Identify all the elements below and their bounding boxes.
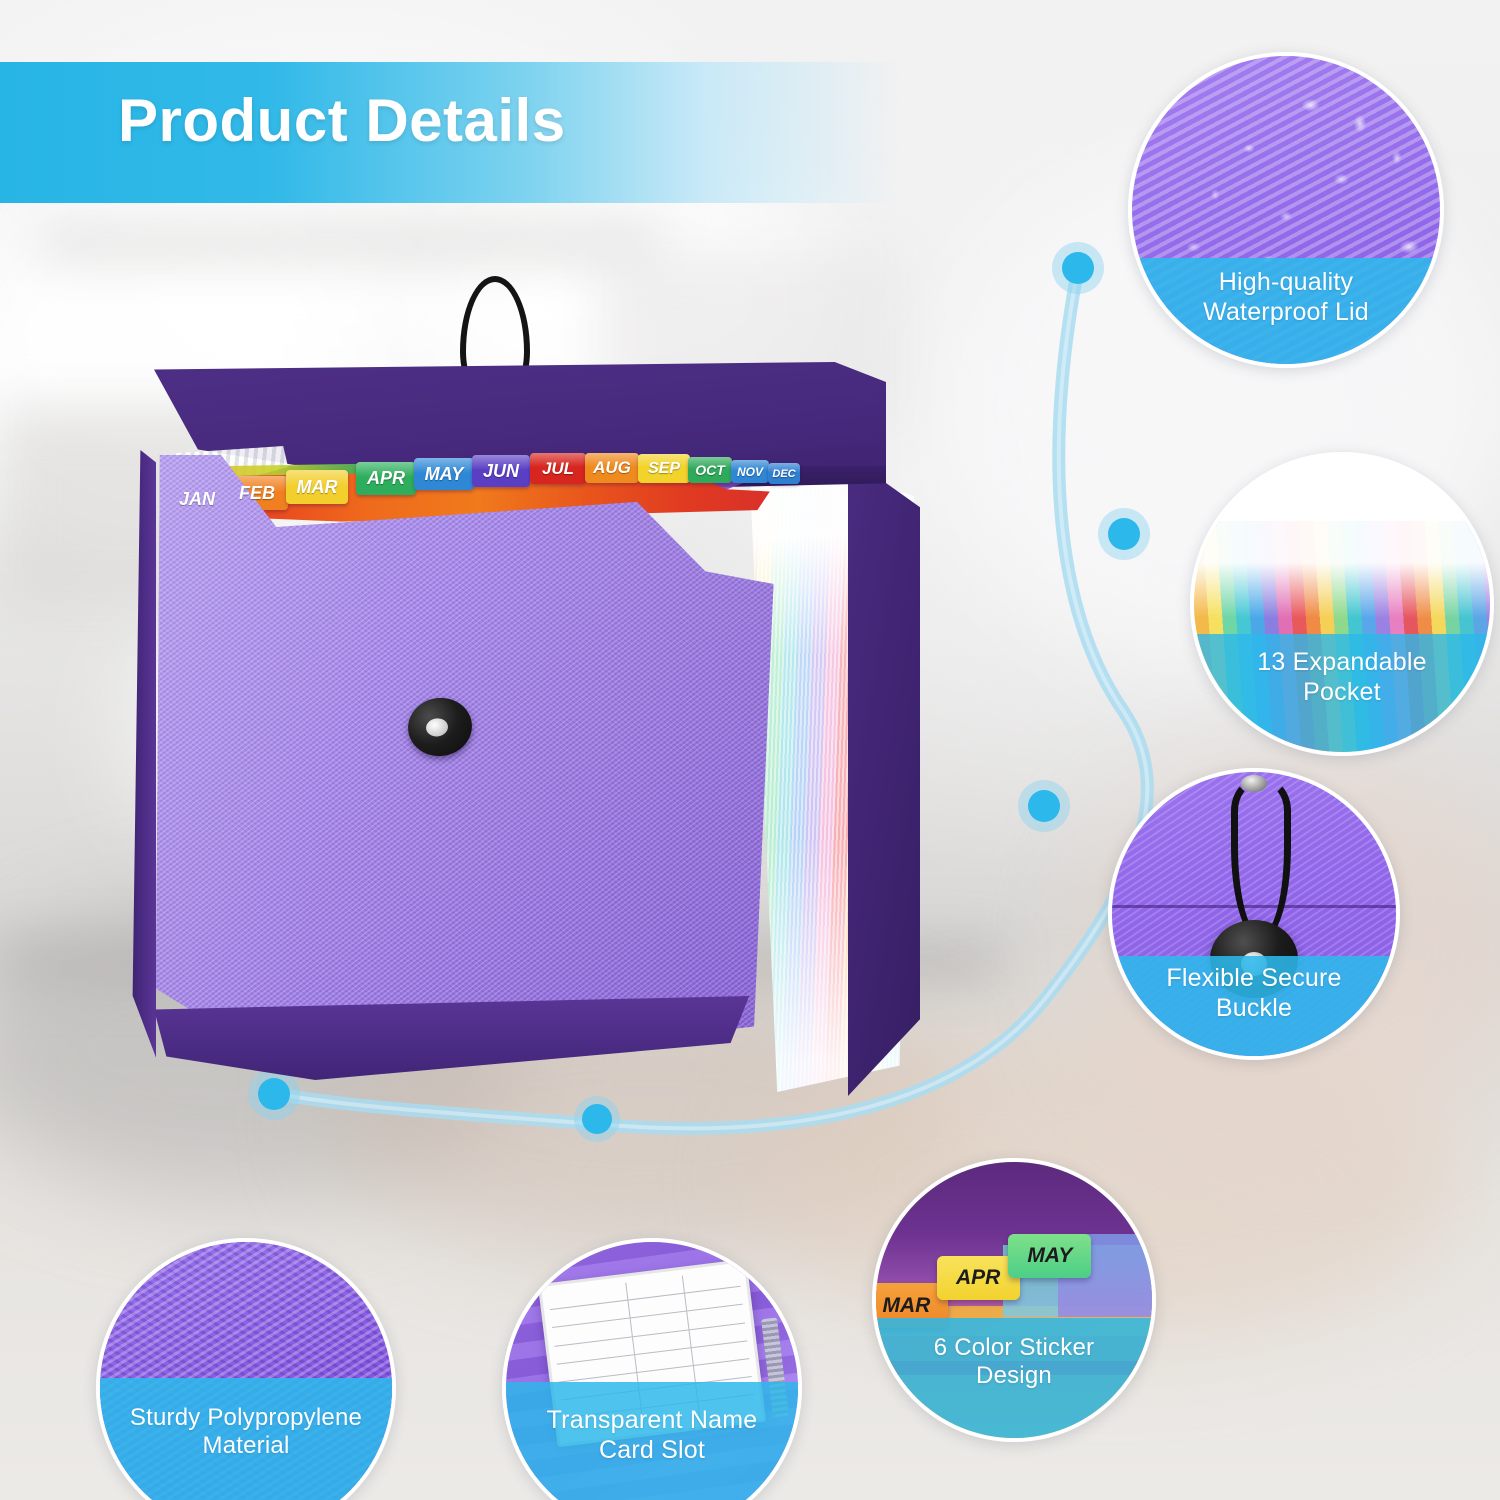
product-details-infographic: JANFEBMARAPRMAYJUNJULAUGSEPOCTNOVDEC Hig… xyxy=(0,0,1500,1500)
month-tab-label: MAY xyxy=(425,464,464,485)
month-tab-row: JANFEBMARAPRMAYJUNJULAUGSEPOCTNOVDEC xyxy=(148,438,788,508)
month-tab-oct: OCT xyxy=(688,457,732,483)
feature-caption: Sturdy Polypropylene Material xyxy=(100,1378,392,1500)
month-tab-jun: JUN xyxy=(472,455,530,487)
month-tab-label: FEB xyxy=(239,483,275,504)
month-tab-sep: SEP xyxy=(638,454,690,483)
month-tab-dec: DEC xyxy=(768,463,800,484)
folder-left-edge xyxy=(130,450,156,1070)
month-tab-label: OCT xyxy=(695,462,725,478)
feature-caption-line2: Pocket xyxy=(1303,678,1381,708)
feature-bubble-expandable-pocket[interactable]: 13 Expandable Pocket xyxy=(1190,452,1494,756)
month-tab-label: JUN xyxy=(483,461,519,482)
page-title: Product Details xyxy=(118,86,566,155)
feature-caption-line2: Design xyxy=(976,1362,1052,1390)
month-tab-label: AUG xyxy=(593,458,631,478)
connector-dot xyxy=(574,1096,620,1142)
feature-bubble-name-card-slot[interactable]: Transparent Name Card Slot xyxy=(502,1238,802,1500)
feature-bubble-polypropylene-material[interactable]: Sturdy Polypropylene Material xyxy=(96,1238,396,1500)
month-tab-nov: NOV xyxy=(731,460,769,483)
month-tab-label: MAR xyxy=(297,477,338,498)
month-tab-apr: APR xyxy=(356,462,416,495)
feature-bubble-waterproof-lid[interactable]: High-quality Waterproof Lid xyxy=(1128,52,1444,368)
feature-caption-line1: Flexible Secure xyxy=(1166,964,1341,994)
feature-bubble-sticker-design[interactable]: MAR APR MAY 6 Color Sticker Design xyxy=(872,1158,1156,1442)
feature-caption-line1: High-quality xyxy=(1219,268,1353,298)
feature-caption: Transparent Name Card Slot xyxy=(506,1382,798,1500)
feature-caption-line1: 13 Expandable xyxy=(1257,648,1426,678)
feature-caption-line1: Sturdy Polypropylene xyxy=(130,1404,362,1432)
month-tab-label: SEP xyxy=(648,460,680,478)
folder-side-panel xyxy=(848,456,920,1096)
feature-caption: High-quality Waterproof Lid xyxy=(1132,258,1440,364)
month-tab-mar: MAR xyxy=(286,470,348,504)
feature-caption: 13 Expandable Pocket xyxy=(1194,634,1490,752)
sticker-tab-may: MAY xyxy=(1008,1234,1091,1278)
feature-caption-line2: Waterproof Lid xyxy=(1203,298,1369,328)
eyelet-icon xyxy=(1241,775,1267,792)
month-tab-jul: JUL xyxy=(530,453,586,484)
month-tab-label: APR xyxy=(367,468,405,489)
feature-caption-line1: 6 Color Sticker xyxy=(934,1334,1094,1362)
month-tab-label: JAN xyxy=(179,489,215,510)
main-product-image: JANFEBMARAPRMAYJUNJULAUGSEPOCTNOVDEC xyxy=(120,270,920,1030)
month-tab-label: DEC xyxy=(772,468,795,480)
connector-dot xyxy=(1098,508,1150,560)
connector-dot xyxy=(1018,780,1070,832)
month-tab-aug: AUG xyxy=(585,453,639,483)
feature-caption-line2: Buckle xyxy=(1216,994,1292,1024)
month-tab-label: JUL xyxy=(542,459,574,479)
feature-bubble-secure-buckle[interactable]: Flexible Secure Buckle xyxy=(1108,768,1400,1060)
feature-caption-line2: Card Slot xyxy=(599,1436,705,1466)
feature-caption-line2: Material xyxy=(203,1432,290,1460)
month-tab-may: MAY xyxy=(414,458,474,490)
elastic-cord-icon xyxy=(1231,778,1291,942)
panel-sheen xyxy=(130,445,780,1077)
feature-caption: Flexible Secure Buckle xyxy=(1112,956,1396,1056)
sticker-tab-apr: APR xyxy=(937,1256,1020,1300)
background-shelf xyxy=(40,232,660,254)
month-tab-label: NOV xyxy=(737,465,763,479)
feature-caption: 6 Color Sticker Design xyxy=(876,1318,1152,1438)
connector-dot xyxy=(1052,242,1104,294)
feature-caption-line1: Transparent Name xyxy=(547,1406,758,1436)
folder-front-panel xyxy=(130,445,780,1077)
